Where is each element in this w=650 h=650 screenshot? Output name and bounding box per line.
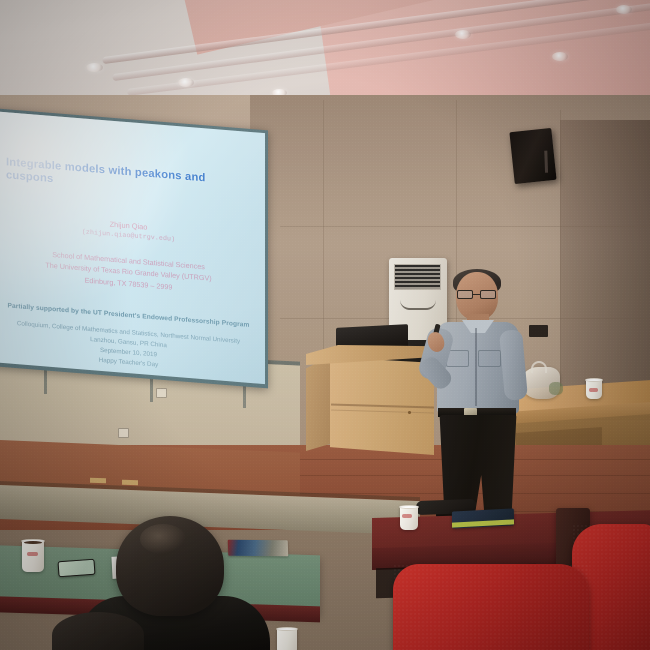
shirt-pocket (478, 350, 501, 367)
shirt-placket (475, 328, 477, 406)
glasses-bridge (473, 294, 480, 295)
glasses-icon (456, 290, 498, 299)
screen-surface: Integrable models with peakons and cuspo… (0, 111, 265, 384)
cup-logo (402, 514, 412, 518)
downlight-icon (455, 30, 471, 39)
paper-cup[interactable] (22, 540, 44, 572)
plastic-bag-contents (549, 382, 563, 395)
downlight-icon (552, 52, 568, 61)
speaker-slot (544, 151, 548, 173)
cup-logo (589, 388, 598, 392)
tile-seam (560, 110, 561, 400)
lectern-side-panel (306, 355, 332, 451)
slide-affiliation: School of Mathematical and Statistical S… (2, 245, 255, 301)
presenter-right-arm (499, 329, 528, 401)
wall-speaker-icon (509, 128, 556, 184)
presenter (418, 272, 540, 517)
cup-rim (585, 378, 603, 382)
glasses-lens-right (480, 290, 496, 299)
projection-screen[interactable]: Integrable models with peakons and cuspo… (0, 108, 268, 388)
wall-outlet (118, 428, 129, 438)
printed-photo-card[interactable] (228, 540, 289, 557)
seat-fabric-texture (393, 564, 589, 650)
wall-bracket (44, 368, 47, 394)
lecture-hall-photo: Integrable models with peakons and cuspo… (0, 0, 650, 650)
downlight-icon (178, 78, 194, 87)
cup-rim (276, 627, 298, 631)
wall-corner-shadow (560, 120, 650, 420)
lectern[interactable] (306, 345, 434, 460)
slide-title: Integrable models with peakons and cuspo… (6, 156, 255, 203)
paper-cup[interactable] (586, 379, 602, 399)
paper-cup[interactable] (400, 506, 418, 530)
glasses-lens-left (457, 290, 473, 299)
auditorium-seat[interactable] (393, 564, 589, 650)
cup-rim (399, 505, 419, 509)
audience-member-second (52, 612, 144, 650)
downlight-icon (86, 63, 103, 72)
cup-logo (27, 552, 38, 556)
tile-seam (280, 226, 650, 227)
paper-cup[interactable] (277, 628, 297, 650)
audience-hair-highlight (140, 524, 186, 554)
floor-tape-marker (90, 478, 106, 484)
floor-tape-marker (122, 480, 138, 486)
presentation-slide: Integrable models with peakons and cuspo… (0, 111, 265, 384)
cup-coffee-surface (24, 541, 42, 544)
wall-bracket (150, 376, 153, 402)
smartphone-on-desk[interactable] (57, 559, 95, 578)
lectern-knob (408, 411, 411, 414)
downlight-icon (616, 5, 632, 14)
wall-outlet (156, 388, 167, 398)
